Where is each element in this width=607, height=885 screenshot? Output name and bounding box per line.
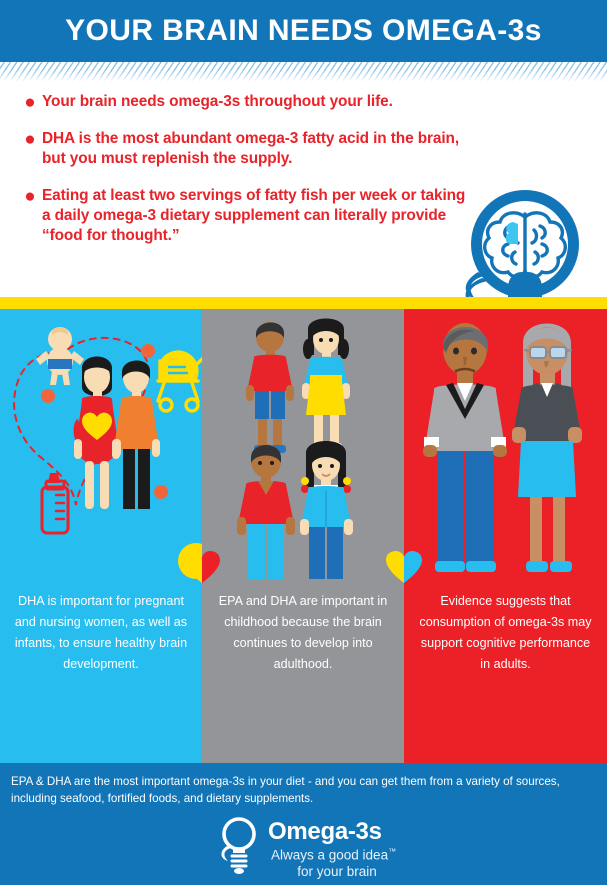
brand-tagline-2: for your brain <box>268 864 396 880</box>
panel-adulthood: Evidence suggests that consumption of om… <box>404 309 607 763</box>
teen-boy-figure <box>237 444 295 579</box>
older-couple-illustration <box>404 309 607 579</box>
key-points-section: ● Your brain needs omega-3s throughout y… <box>0 86 607 291</box>
boy-child-figure <box>246 322 294 453</box>
panel-caption: Evidence suggests that consumption of om… <box>404 591 607 675</box>
dot <box>41 389 55 403</box>
teen-girl-figure <box>300 441 353 579</box>
footer-summary-text: EPA & DHA are the most important omega-3… <box>11 773 599 807</box>
panel-caption: EPA and DHA are important in childhood b… <box>202 591 404 675</box>
older-woman-figure <box>512 324 582 573</box>
children-illustration <box>202 309 404 579</box>
yellow-divider <box>0 297 607 309</box>
page-title: YOUR BRAIN NEEDS OMEGA-3s <box>65 14 542 48</box>
list-item: ● DHA is the most abundant omega-3 fatty… <box>18 129 468 169</box>
pregnant-couple-illustration <box>0 309 202 579</box>
infographic-page: YOUR BRAIN NEEDS OMEGA-3s ● Your brain n… <box>0 0 607 885</box>
pregnant-woman-figure <box>74 357 120 510</box>
list-item: ● Eating at least two servings of fatty … <box>18 186 468 246</box>
stripe-fade-overlay <box>0 62 607 81</box>
bullet-dot-icon: ● <box>18 186 42 246</box>
header-banner: YOUR BRAIN NEEDS OMEGA-3s <box>0 0 607 62</box>
girl-child-figure <box>302 319 350 456</box>
brand-tagline-1: Always a good idea™ <box>268 844 396 864</box>
dot <box>141 344 155 358</box>
tagline-text: Always a good idea <box>271 848 388 863</box>
bullet-list: ● Your brain needs omega-3s throughout y… <box>18 92 468 263</box>
brand-name: Omega-3s <box>268 819 396 844</box>
baby-bottle-icon <box>42 473 68 533</box>
lightbulb-icon <box>215 815 263 875</box>
bullet-text: DHA is the most abundant omega-3 fatty a… <box>42 129 468 169</box>
heart-divider-left-icon <box>182 549 222 585</box>
trademark-symbol: ™ <box>388 847 396 856</box>
bullet-text: Eating at least two servings of fatty fi… <box>42 186 468 246</box>
heart-divider-right-icon <box>384 549 424 585</box>
man-figure <box>113 361 160 510</box>
lifestage-panels: DHA is important for pregnant and nursin… <box>0 309 607 763</box>
panel-caption: DHA is important for pregnant and nursin… <box>0 591 202 675</box>
bullet-dot-icon: ● <box>18 129 42 169</box>
footer-banner: EPA & DHA are the most important omega-3… <box>0 763 607 885</box>
dot <box>154 485 168 499</box>
older-man-figure <box>423 323 507 572</box>
baby-icon <box>36 327 84 385</box>
list-item: ● Your brain needs omega-3s throughout y… <box>18 92 468 112</box>
brand-wordmark: Omega-3s Always a good idea™ for your br… <box>263 815 396 880</box>
stroller-icon <box>158 350 202 411</box>
omega3s-brand-logo: Omega-3s Always a good idea™ for your br… <box>215 815 400 877</box>
panel-pregnancy-infancy: DHA is important for pregnant and nursin… <box>0 309 202 763</box>
bullet-dot-icon: ● <box>18 92 42 112</box>
panel-childhood: EPA and DHA are important in childhood b… <box>202 309 404 763</box>
bullet-text: Your brain needs omega-3s throughout you… <box>42 92 393 112</box>
